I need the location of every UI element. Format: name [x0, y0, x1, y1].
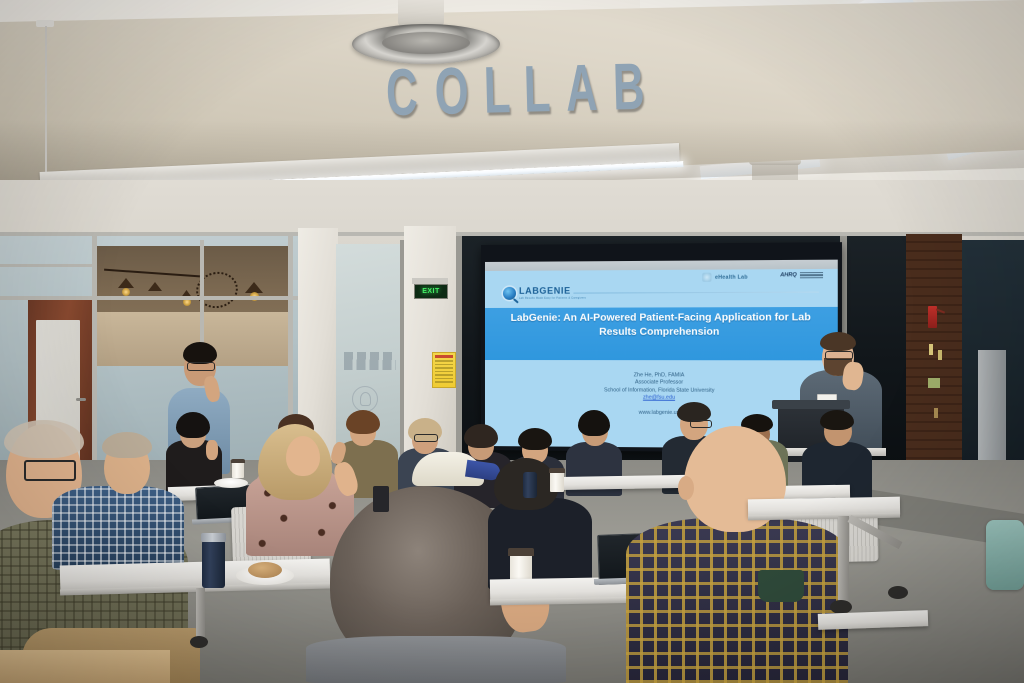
chair[interactable] [986, 520, 1024, 590]
lightbulb-logo-filament [360, 392, 371, 406]
standing-person-hair [183, 342, 217, 364]
sign-letter: O [434, 58, 469, 123]
coffee-cup-lid [231, 459, 245, 463]
table-leg [838, 516, 849, 608]
foreground-person-head [286, 436, 320, 476]
eyeglasses [690, 420, 712, 428]
wall-notice-poster [432, 352, 456, 388]
sign-letter: B [613, 54, 646, 119]
audience-hair [518, 428, 552, 450]
audience-hair [820, 410, 854, 430]
ceiling-duct [398, 0, 444, 26]
travel-tumbler [373, 486, 389, 512]
audience-hair [464, 424, 498, 448]
clapping-hands [206, 440, 218, 460]
sign-letter: A [565, 55, 598, 120]
foreground-person-torso [626, 518, 848, 683]
plate [214, 478, 248, 488]
sign-letter: L [483, 57, 511, 122]
poster-text-line [435, 378, 453, 380]
travel-tumbler [202, 540, 225, 588]
tote-bag [758, 570, 804, 602]
eyeglasses [414, 434, 438, 442]
poster-text-line [435, 371, 453, 373]
exit-sign: EXIT [414, 284, 448, 299]
audience-hair [578, 410, 610, 436]
foreground-person-hair [4, 420, 84, 458]
foreground-person-torso [52, 486, 184, 570]
coffee-cup-lid [549, 468, 565, 473]
coffee-cup [550, 472, 564, 492]
eyeglasses [825, 351, 853, 360]
coffee-cup-lid [508, 548, 534, 556]
pendant-stem [45, 26, 47, 178]
travel-tumbler [523, 472, 537, 498]
audience-hair [176, 412, 210, 438]
eyeglasses [24, 460, 76, 481]
air-diffuser-inner [382, 32, 470, 54]
pastry [248, 562, 282, 578]
shelf-item [928, 378, 940, 388]
window-mullion [456, 236, 462, 468]
window-mullion [0, 264, 96, 267]
ehealth-lab-logo: eHealth Lab [703, 272, 748, 281]
foreground-person-torso [306, 636, 566, 683]
partner-logo-label: AHRQ [780, 272, 797, 278]
labgenie-wordmark: LABGENIE [519, 285, 586, 295]
frosted-door-script-text [344, 352, 396, 370]
audience-hair [346, 410, 380, 434]
poster-text-line [435, 367, 453, 369]
labgenie-tagline: Lab Results Made Easy for Patients & Car… [519, 297, 586, 300]
exit-sign-mount [412, 278, 448, 284]
foreground-person-torso [488, 498, 592, 590]
poster-text-line [435, 364, 453, 366]
lamp-glow [122, 288, 130, 296]
poster-text-line [435, 381, 453, 383]
window-mullion [0, 296, 300, 300]
collab-room-sign: C O L L A B [377, 54, 649, 133]
foreground-person-hair [102, 432, 152, 458]
ehealth-lab-mark-icon [703, 273, 712, 282]
labgenie-logo: LABGENIE Lab Results Made Easy for Patie… [503, 285, 586, 299]
sign-letter: L [523, 56, 551, 121]
shelf-item [938, 350, 942, 360]
table-leg [196, 588, 205, 640]
shelf-item [929, 344, 933, 355]
presentation-room-photo: C O L L A B [0, 0, 1024, 683]
labgenie-mark-icon [503, 286, 516, 299]
poster-text-line [435, 360, 453, 362]
wood-table-foreground [0, 650, 170, 683]
table-caster [190, 636, 208, 648]
audience-hair [677, 402, 711, 422]
slide-title: LabGenie: An AI-Powered Patient-Facing A… [495, 311, 827, 340]
ehealth-lab-label: eHealth Lab [715, 274, 748, 280]
partner-logo: AHRQ [780, 272, 823, 278]
partner-logo-bars-icon [800, 272, 823, 278]
table-caster [888, 586, 908, 599]
podium-top [772, 400, 850, 409]
eyeglasses [187, 362, 215, 371]
poster-heading-bar [435, 355, 453, 358]
foreground-person-ear [678, 476, 694, 500]
presenter-hair [820, 332, 856, 351]
shelf-item [934, 408, 938, 418]
sign-letter: C [385, 59, 418, 124]
tumbler-lid [201, 533, 226, 542]
poster-text-line [435, 374, 453, 376]
door-handle[interactable] [76, 398, 86, 401]
coffee-cup [232, 462, 244, 478]
exit-sign-label: EXIT [422, 288, 440, 295]
